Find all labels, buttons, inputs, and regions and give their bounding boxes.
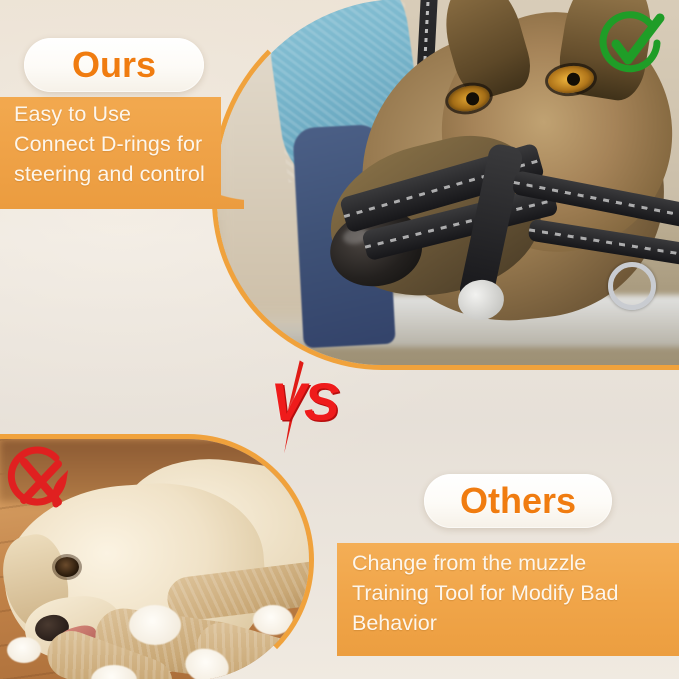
red-x-circle-icon — [6, 446, 74, 514]
toy-stuffing — [253, 605, 293, 635]
others-feature-list: Change from the muzzle Training Tool for… — [352, 548, 672, 638]
green-check-circle-icon — [596, 10, 666, 80]
toy-stuffing — [7, 637, 41, 663]
ours-label-pill: Ours — [24, 38, 204, 92]
dog-pupil-right — [567, 72, 581, 86]
ours-feature-1: Easy to Use — [14, 99, 232, 129]
dog-pupil-left — [465, 91, 480, 106]
labrador-eye — [55, 557, 79, 577]
others-label-pill: Others — [424, 474, 612, 528]
vs-label: VS — [258, 372, 350, 433]
others-feature-3: Behavior — [352, 608, 672, 638]
d-ring — [608, 262, 656, 310]
others-feature-2: Training Tool for Modify Bad — [352, 578, 672, 608]
ours-feature-3: steering and control — [14, 159, 232, 189]
ours-feature-2: Connect D-rings for — [14, 129, 232, 159]
ours-label-text: Ours — [72, 44, 156, 86]
ours-feature-list: Easy to Use Connect D-rings for steering… — [14, 99, 232, 189]
others-feature-1: Change from the muzzle — [352, 548, 672, 578]
others-label-text: Others — [460, 480, 576, 522]
toy-stuffing — [129, 605, 181, 645]
vs-divider: VS — [258, 366, 350, 448]
product-comparison-graphic: Easy to Use Connect D-rings for steering… — [0, 0, 679, 679]
